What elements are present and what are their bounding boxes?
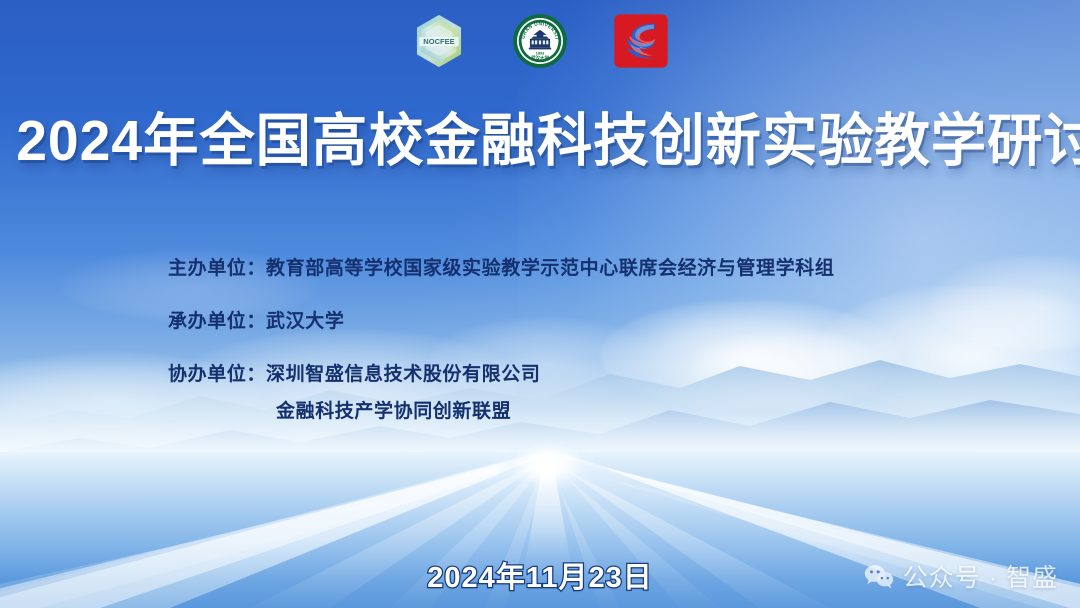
wechat-watermark-text: 公众号 · 智盛 xyxy=(903,558,1058,594)
organizer-coorganizer-value: 深圳智盛信息技术股份有限公司 xyxy=(266,364,540,385)
logo-row: NOCFEE WUHAN UNIVERSITY xyxy=(0,12,1080,70)
nocfee-logo-text: NOCFEE xyxy=(423,37,454,46)
organizer-host: 主办单位：教育部高等学校国家级实验教学示范中心联席会经济与管理学科组 xyxy=(168,258,834,279)
page-title: 2024年全国高校金融科技创新实验教学研讨会 xyxy=(16,108,1064,174)
cloud-decoration xyxy=(820,285,1080,415)
wuhan-university-logo-subtext: 武汉大学 xyxy=(531,54,549,61)
cloud-decoration xyxy=(930,255,1080,350)
organizer-coorganizer-second: 金融科技产学协同创新联盟 xyxy=(168,401,834,422)
zhisheng-logo xyxy=(612,12,670,70)
organizer-coorganizer: 协办单位：深圳智盛信息技术股份有限公司 xyxy=(168,364,834,385)
organizer-undertaker-value: 武汉大学 xyxy=(266,311,344,332)
organizer-coorganizer-label: 协办单位： xyxy=(168,364,266,385)
conference-poster: NOCFEE WUHAN UNIVERSITY xyxy=(0,0,1080,608)
nocfee-logo: NOCFEE xyxy=(410,12,468,70)
wechat-watermark: 公众号 · 智盛 xyxy=(864,558,1058,594)
organizer-host-label: 主办单位： xyxy=(168,258,266,279)
organizer-undertaker-label: 承办单位： xyxy=(168,311,266,332)
wuhan-university-logo-year: 1893 xyxy=(536,50,546,55)
wechat-icon xyxy=(864,563,894,589)
wuhan-university-logo: WUHAN UNIVERSITY 1893 武汉大学 xyxy=(512,13,568,69)
organizer-host-value: 教育部高等学校国家级实验教学示范中心联席会经济与管理学科组 xyxy=(266,258,834,279)
organizer-undertaker: 承办单位：武汉大学 xyxy=(168,311,834,332)
organizer-block: 主办单位：教育部高等学校国家级实验教学示范中心联席会经济与管理学科组 承办单位：… xyxy=(168,258,834,422)
